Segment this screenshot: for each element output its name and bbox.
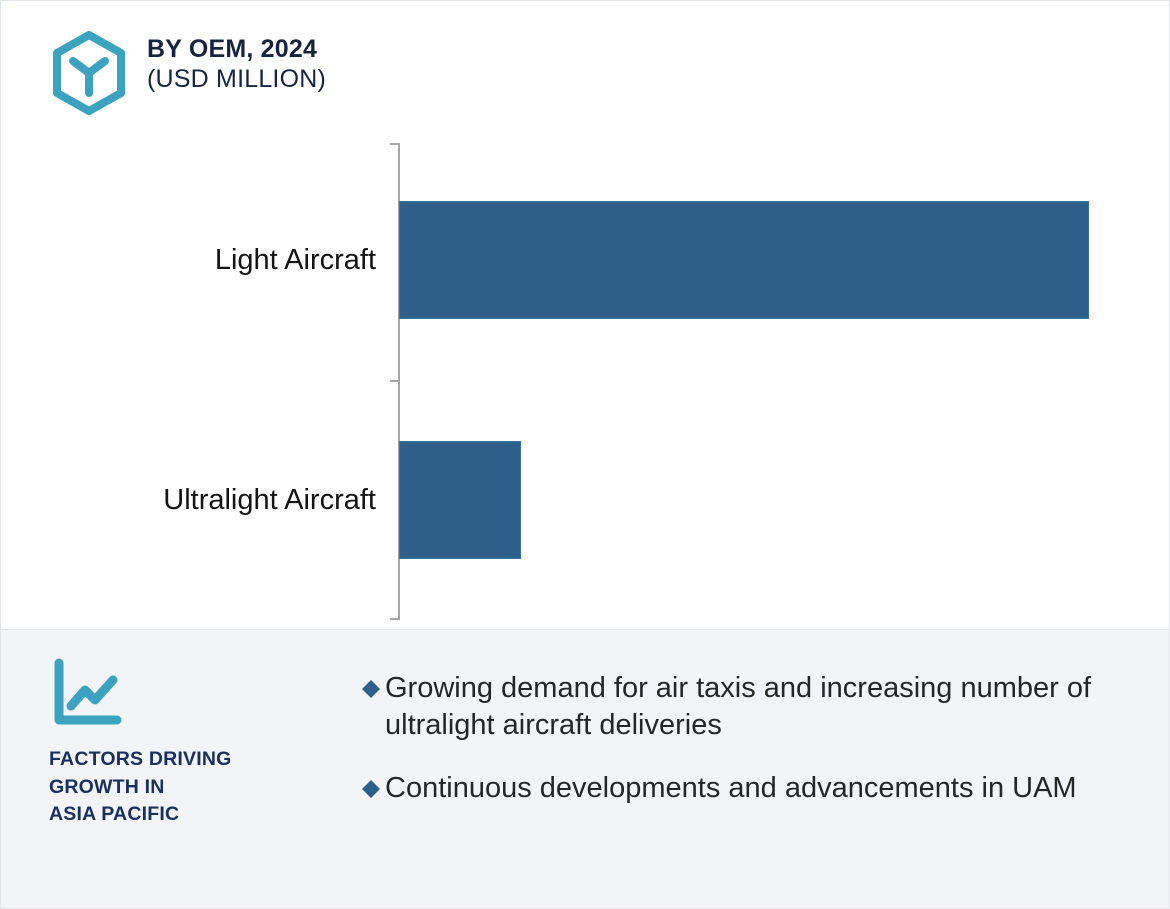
plot-area: Light Aircraft Ultralight Aircraft <box>1 1 1170 629</box>
category-label-light-aircraft: Light Aircraft <box>0 244 376 277</box>
bullet-text: Growing demand for air taxis and increas… <box>385 670 1136 744</box>
line-chart-trend-icon <box>49 656 339 730</box>
diamond-bullet-icon <box>361 679 381 699</box>
factors-heading-line-2: GROWTH IN <box>49 774 339 802</box>
bullet-text: Continuous developments and advancements… <box>385 770 1077 807</box>
axis-tick-bottom <box>390 618 399 620</box>
factors-heading-line-1: FACTORS DRIVING <box>49 746 339 774</box>
factors-heading-block: FACTORS DRIVING GROWTH IN ASIA PACIFIC <box>49 656 339 829</box>
factors-bullet-list: Growing demand for air taxis and increas… <box>361 670 1136 833</box>
diamond-bullet-icon <box>361 779 381 799</box>
factors-panel: FACTORS DRIVING GROWTH IN ASIA PACIFIC G… <box>1 629 1170 909</box>
infographic-card: BY OEM, 2024 (USD MILLION) Light Aircraf… <box>0 0 1170 909</box>
chart-panel: BY OEM, 2024 (USD MILLION) Light Aircraf… <box>1 1 1170 629</box>
factors-heading: FACTORS DRIVING GROWTH IN ASIA PACIFIC <box>49 746 339 829</box>
category-label-ultralight-aircraft: Ultralight Aircraft <box>0 484 376 517</box>
factors-heading-line-3: ASIA PACIFIC <box>49 801 339 829</box>
list-item: Growing demand for air taxis and increas… <box>361 670 1136 744</box>
bar-light-aircraft <box>399 201 1089 319</box>
axis-tick-middle <box>390 380 399 382</box>
axis-tick-top <box>390 143 399 145</box>
bar-ultralight-aircraft <box>399 441 521 559</box>
list-item: Continuous developments and advancements… <box>361 770 1136 807</box>
